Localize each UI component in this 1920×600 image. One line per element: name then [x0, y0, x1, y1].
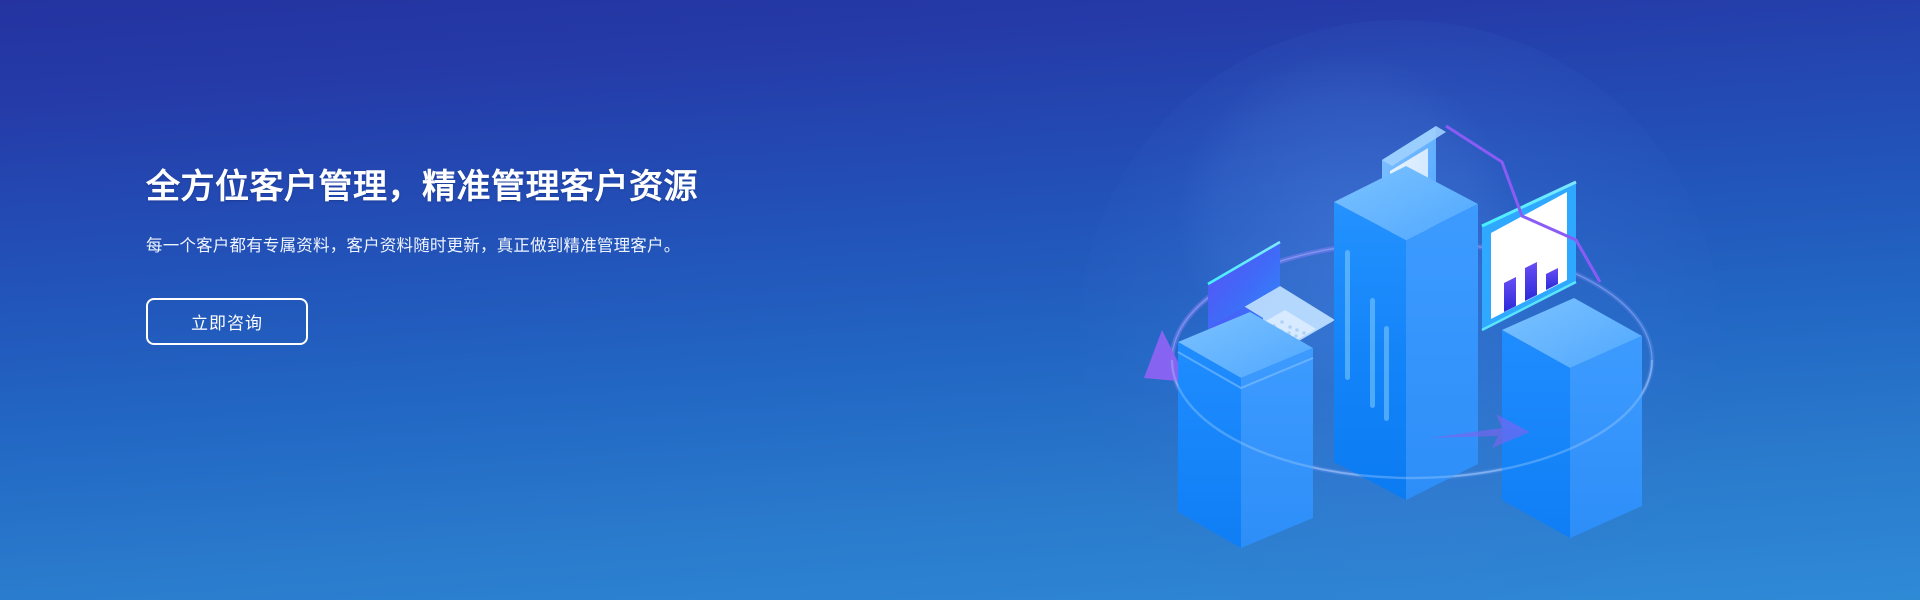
hero-subtitle: 每一个客户都有专属资料，客户资料随时更新，真正做到精准管理客户。 — [146, 233, 736, 260]
pillar-left — [1178, 242, 1335, 548]
hero-banner: 全方位客户管理，精准管理客户资源 每一个客户都有专属资料，客户资料随时更新，真正… — [0, 0, 1920, 600]
page-title: 全方位客户管理，精准管理客户资源 — [146, 166, 786, 209]
pillar-center — [1334, 126, 1478, 500]
hero-illustration — [1130, 30, 1690, 590]
consult-now-button[interactable]: 立即咨询 — [146, 298, 308, 345]
hero-copy-block: 全方位客户管理，精准管理客户资源 每一个客户都有专属资料，客户资料随时更新，真正… — [146, 166, 786, 345]
